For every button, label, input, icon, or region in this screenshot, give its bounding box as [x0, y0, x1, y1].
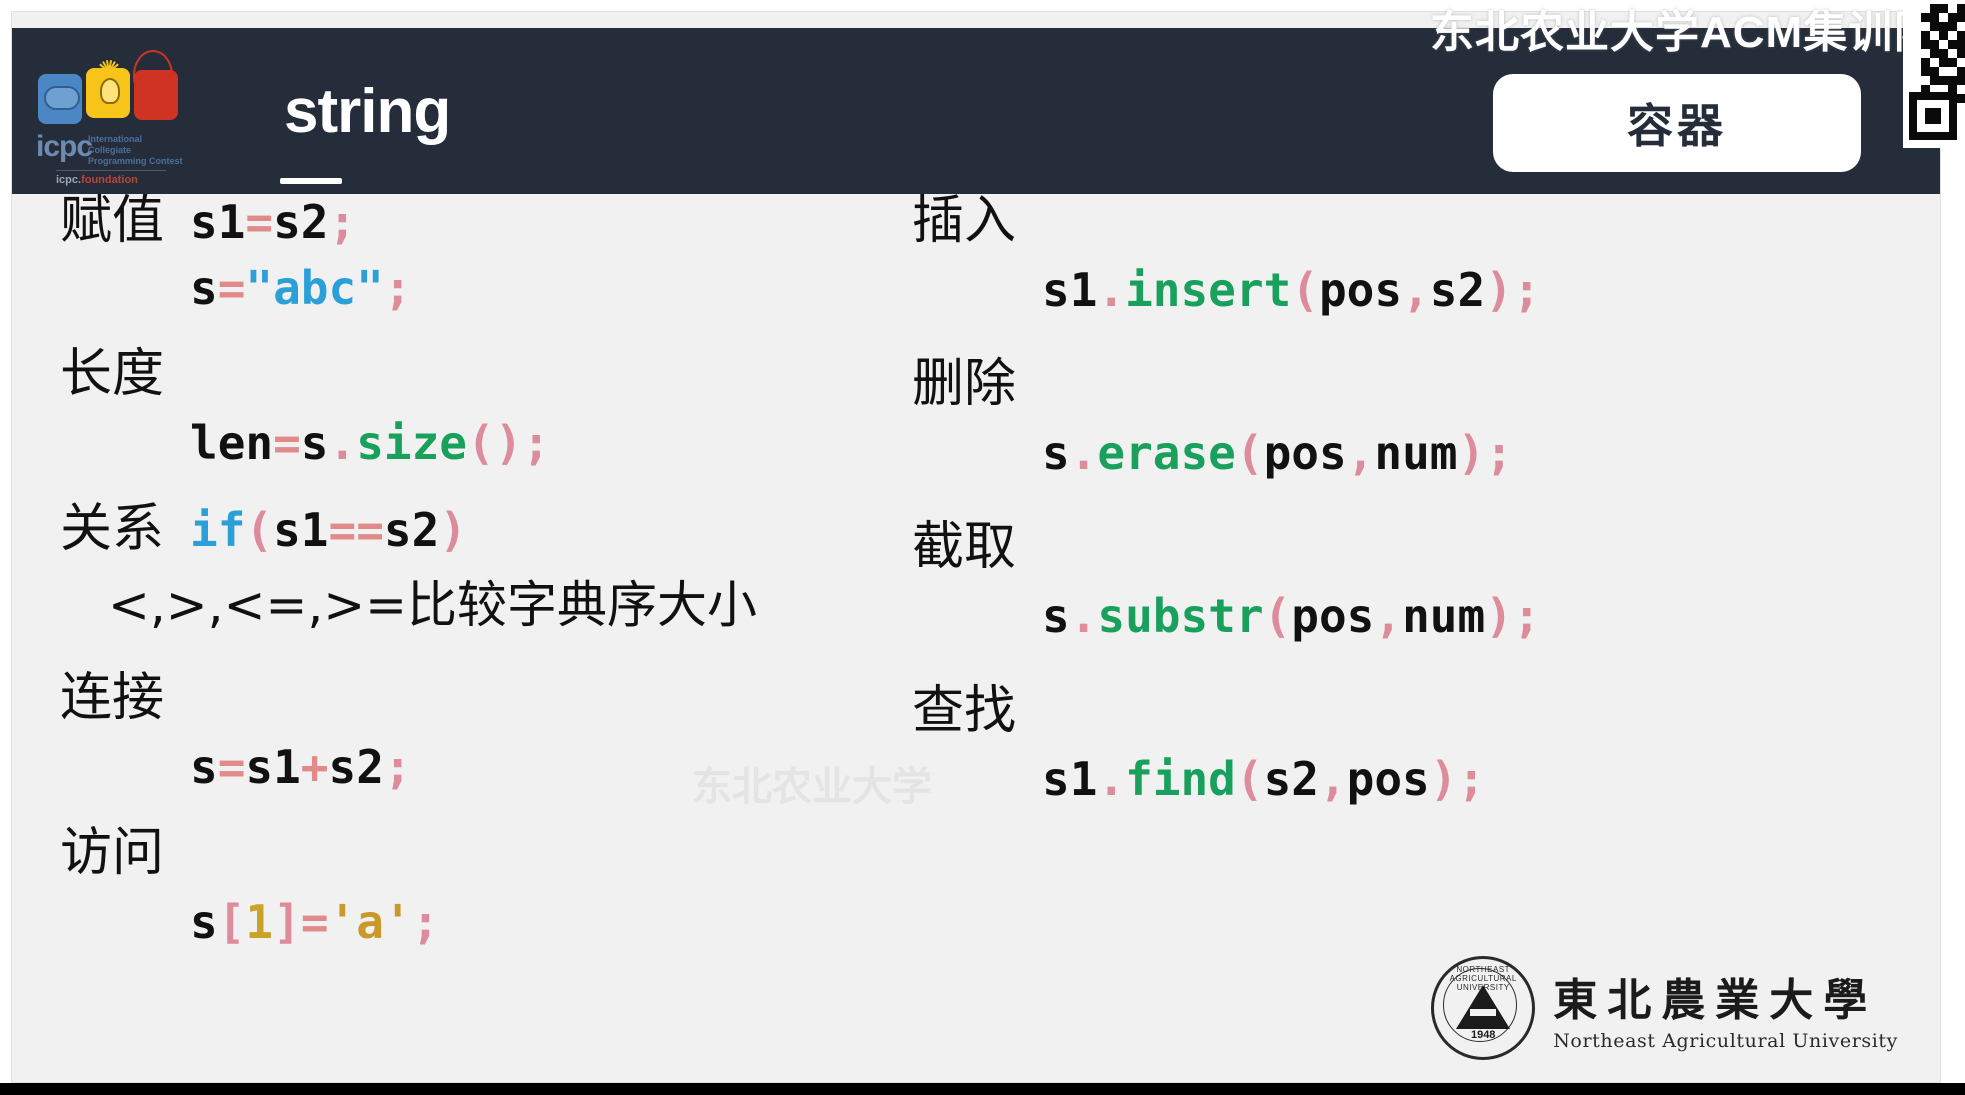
- left-column-entry-row: 赋值s1=s2;: [60, 194, 940, 249]
- qr-module: [1921, 58, 1930, 67]
- qr-module: [1948, 13, 1957, 22]
- qr-module: [1948, 58, 1957, 67]
- emblem-mountain-icon: [1456, 985, 1510, 1029]
- right-column-entry: 插入s1.insert(pos,s2);: [912, 194, 1812, 315]
- right-column-entry-label: 截取: [912, 520, 1016, 575]
- qr-module: [1948, 40, 1957, 49]
- qr-code[interactable]: [1903, 0, 1965, 148]
- qr-module: [1948, 67, 1957, 76]
- qr-module: [1921, 67, 1930, 76]
- qr-module: [1939, 49, 1948, 58]
- qr-code-modules: [1903, 4, 1965, 103]
- right-column-entry: 查找s1.find(s2,pos);: [912, 684, 1812, 805]
- qr-module: [1957, 13, 1965, 22]
- university-emblem-icon: NORTHEAST AGRICULTURAL UNIVERSITY 1948: [1431, 956, 1535, 1060]
- qr-module: [1903, 76, 1912, 85]
- icpc-wordmark: icpc: [36, 130, 92, 164]
- qr-module: [1939, 13, 1948, 22]
- qr-module: [1912, 22, 1921, 31]
- qr-module: [1903, 4, 1912, 13]
- right-content-column: 插入s1.insert(pos,s2);删除s.erase(pos,num);截…: [912, 194, 1812, 847]
- qr-module: [1957, 49, 1965, 58]
- right-column-entry: 截取s.substr(pos,num);: [912, 520, 1812, 641]
- qr-module: [1930, 4, 1939, 13]
- qr-module: [1939, 4, 1948, 13]
- icpc-foundation-label: icpc.foundation: [56, 170, 166, 186]
- qr-module: [1930, 67, 1939, 76]
- left-column-entry-label: 赋值: [60, 194, 164, 249]
- qr-module: [1903, 58, 1912, 67]
- qr-module: [1957, 40, 1965, 49]
- qr-module: [1912, 13, 1921, 22]
- qr-module: [1939, 58, 1948, 67]
- left-column-entry: 赋值s1=s2;s="abc";: [60, 194, 940, 313]
- qr-module: [1957, 31, 1965, 40]
- qr-module: [1921, 76, 1930, 85]
- qr-module: [1930, 13, 1939, 22]
- qr-module: [1939, 22, 1948, 31]
- title-underline: [280, 178, 342, 184]
- qr-module: [1930, 31, 1939, 40]
- qr-module: [1921, 4, 1930, 13]
- qr-module: [1930, 22, 1939, 31]
- qr-module: [1930, 58, 1939, 67]
- presentation-slide: icpc International Collegiate Programmin…: [12, 12, 1940, 1082]
- slide-body: 东北农业大学 赋值s1=s2;s="abc";长度len=s.size();关系…: [12, 194, 1940, 1082]
- thought-bubble-icon: [44, 86, 80, 110]
- qr-module: [1948, 31, 1957, 40]
- left-column-entry-row: 关系if(s1==s2): [60, 502, 940, 557]
- category-badge-label: 容器: [1627, 90, 1727, 156]
- qr-module: [1921, 13, 1930, 22]
- qr-module: [1948, 49, 1957, 58]
- qr-module: [1957, 76, 1965, 85]
- qr-module: [1903, 31, 1912, 40]
- left-column-entry-code: if(s1==s2): [190, 505, 467, 556]
- right-column-entry-label: 删除: [912, 357, 1016, 412]
- qr-module: [1921, 49, 1930, 58]
- qr-module: [1921, 31, 1930, 40]
- slide-stage: 东北农业大学ACM集训队: [0, 0, 1965, 1095]
- qr-finder-pattern: [1909, 92, 1957, 140]
- left-column-entry-label: 关系: [60, 502, 164, 557]
- right-column-entry-code: s.substr(pos,num);: [1042, 591, 1812, 642]
- qr-module: [1957, 4, 1965, 13]
- page-title: string: [284, 76, 450, 147]
- qr-module: [1912, 4, 1921, 13]
- qr-module: [1930, 49, 1939, 58]
- qr-module: [1930, 40, 1939, 49]
- qr-module: [1912, 58, 1921, 67]
- right-column-entry-label: 查找: [912, 684, 1016, 739]
- qr-module: [1930, 76, 1939, 85]
- screen-bottom-edge: [0, 1083, 1965, 1095]
- university-name-block: 東北農業大學 Northeast Agricultural University: [1553, 964, 1898, 1052]
- icpc-logo: icpc International Collegiate Programmin…: [28, 42, 188, 190]
- icpc-foundation-prefix: icpc.: [56, 174, 81, 186]
- left-column-entry: 关系if(s1==s2)<,>,<=,>=比较字典序大小: [60, 502, 940, 637]
- qr-module: [1903, 40, 1912, 49]
- qr-module: [1948, 22, 1957, 31]
- right-column-entry-code: s1.insert(pos,s2);: [1042, 265, 1812, 316]
- lightbulb-rays-icon: [88, 60, 128, 82]
- qr-module: [1957, 58, 1965, 67]
- icpc-subtitle: International Collegiate Programming Con…: [88, 134, 184, 167]
- slide-header: icpc International Collegiate Programmin…: [12, 28, 1940, 194]
- qr-module: [1948, 4, 1957, 13]
- qr-module: [1903, 67, 1912, 76]
- qr-module: [1957, 67, 1965, 76]
- left-column-entry-label: 访问: [60, 826, 164, 881]
- balloon-icon: [133, 50, 173, 100]
- qr-module: [1912, 31, 1921, 40]
- qr-module: [1921, 22, 1930, 31]
- left-column-entry: 访问s[1]='a';: [60, 826, 940, 947]
- icpc-logo-squares: [38, 68, 178, 128]
- left-column-entry-code: s1=s2;: [190, 197, 356, 248]
- left-column-entry-note: <,>,<=,>=比较字典序大小: [108, 565, 940, 637]
- left-column-entry: 连接s=s1+s2;: [60, 671, 940, 792]
- emblem-founded-year: 1948: [1434, 1029, 1532, 1041]
- left-column-entry-label: 长度: [60, 347, 164, 402]
- qr-module: [1939, 40, 1948, 49]
- left-column-entry-code: s[1]='a';: [190, 897, 940, 948]
- university-logo: NORTHEAST AGRICULTURAL UNIVERSITY 1948 東…: [1431, 956, 1898, 1060]
- qr-module: [1957, 85, 1965, 94]
- qr-module: [1912, 40, 1921, 49]
- qr-module: [1957, 94, 1965, 103]
- qr-module: [1939, 31, 1948, 40]
- right-column-entry-label: 插入: [912, 194, 1016, 249]
- right-column-entry: 删除s.erase(pos,num);: [912, 357, 1812, 478]
- left-column-entry-code: s=s1+s2;: [190, 742, 940, 793]
- icpc-foundation-suffix: foundation: [81, 174, 138, 186]
- right-column-entry-code: s1.find(s2,pos);: [1042, 754, 1812, 805]
- category-badge[interactable]: 容器: [1493, 74, 1861, 172]
- left-column-entry-code: len=s.size();: [190, 418, 940, 469]
- qr-module: [1939, 67, 1948, 76]
- qr-module: [1939, 76, 1948, 85]
- qr-module: [1903, 22, 1912, 31]
- left-column-entry: 长度len=s.size();: [60, 347, 940, 468]
- qr-module: [1912, 76, 1921, 85]
- qr-module: [1912, 67, 1921, 76]
- left-column-entry-label: 连接: [60, 671, 164, 726]
- left-column-entry-code: s="abc";: [190, 263, 940, 314]
- university-name-en: Northeast Agricultural University: [1553, 1030, 1898, 1052]
- qr-module: [1903, 49, 1912, 58]
- university-name-cn: 東北農業大學: [1553, 964, 1898, 1028]
- qr-module: [1912, 49, 1921, 58]
- qr-module: [1957, 22, 1965, 31]
- qr-module: [1903, 13, 1912, 22]
- qr-module: [1921, 40, 1930, 49]
- left-content-column: 赋值s1=s2;s="abc";长度len=s.size();关系if(s1==…: [60, 194, 940, 981]
- qr-module: [1948, 76, 1957, 85]
- right-column-entry-code: s.erase(pos,num);: [1042, 428, 1812, 479]
